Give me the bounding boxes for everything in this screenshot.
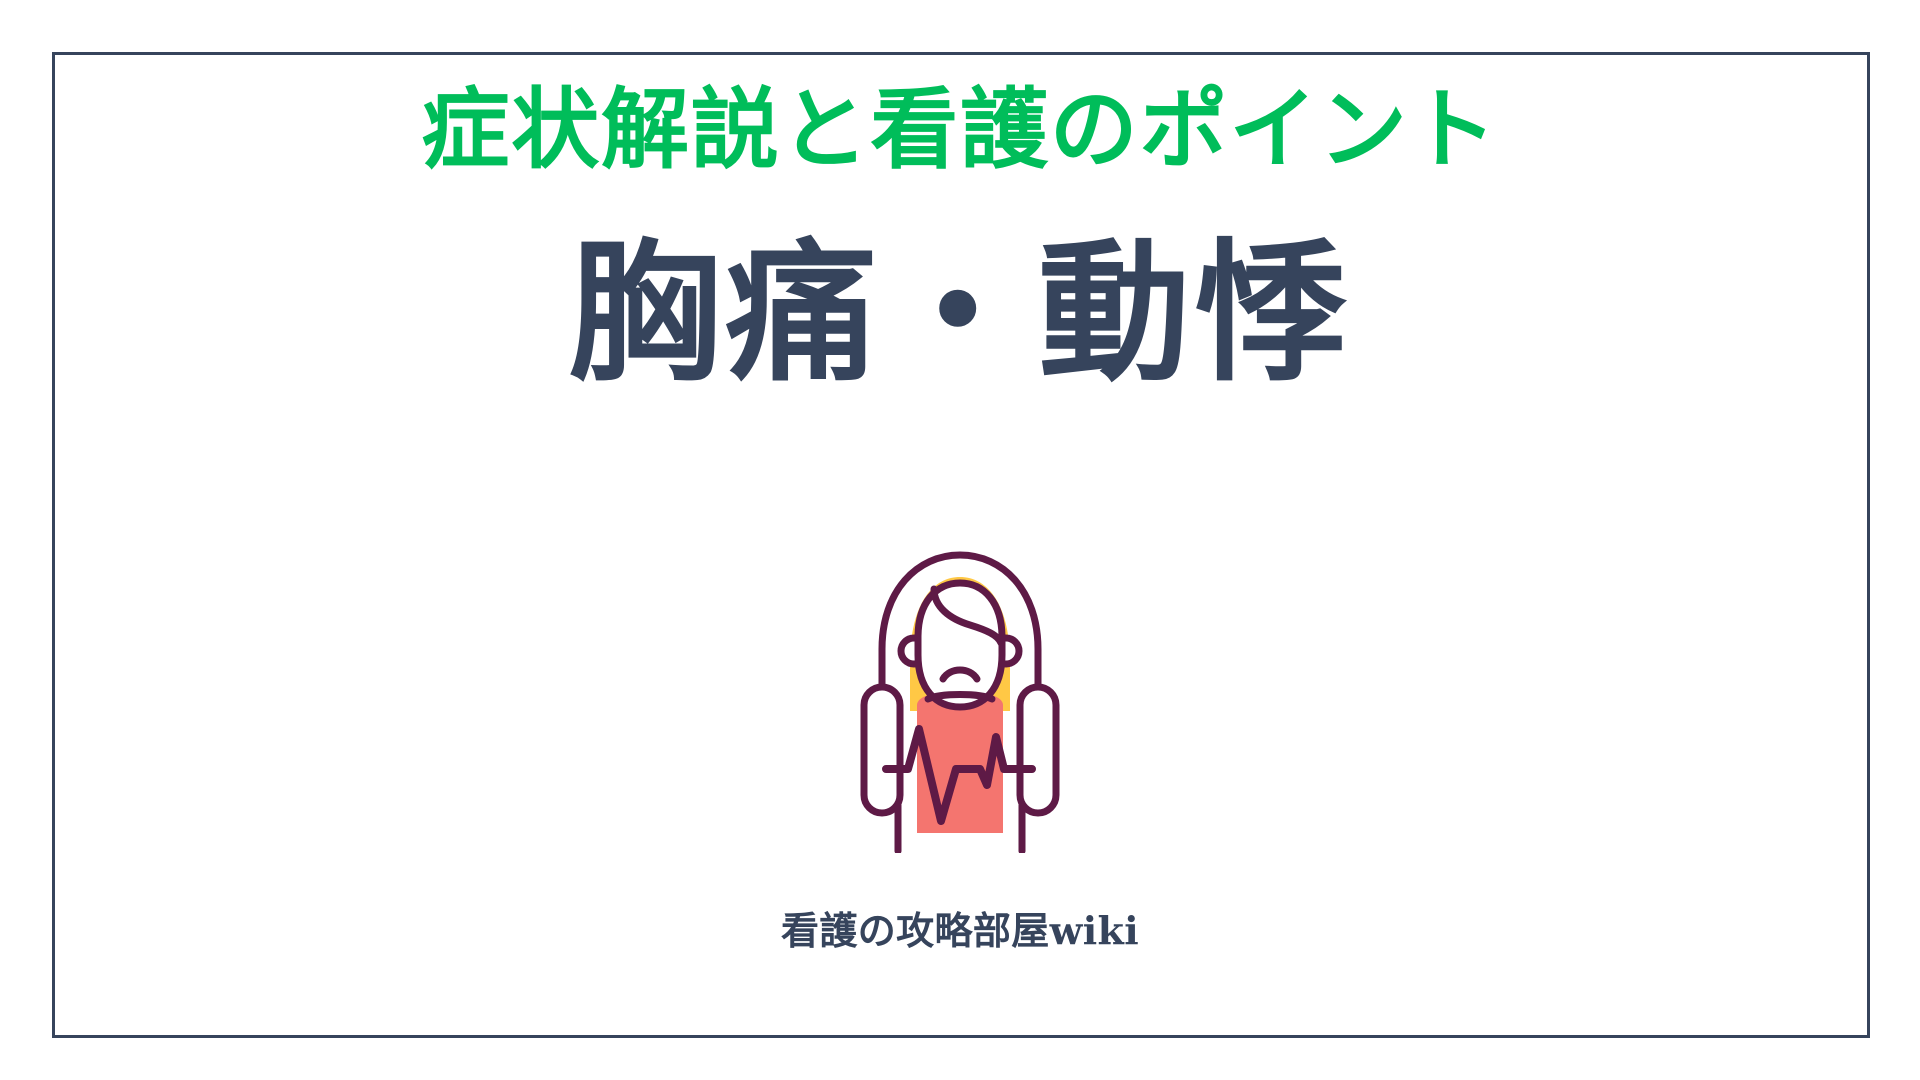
illustration-svg — [840, 533, 1080, 853]
page-title: 胸痛・動悸 — [569, 233, 1352, 393]
distressed-woman-with-heartbeat-illustration — [830, 528, 1090, 858]
left-arm-shape — [864, 687, 900, 813]
slide-content: 症状解説と看護のポイント 胸痛・動悸 — [0, 0, 1920, 1080]
face-shape — [918, 583, 1002, 707]
subtitle-text: 症状解説と看護のポイント — [421, 82, 1498, 177]
right-arm-shape — [1020, 687, 1056, 813]
slide-canvas: 症状解説と看護のポイント 胸痛・動悸 — [0, 0, 1920, 1080]
site-name-footer: 看護の攻略部屋wiki — [781, 900, 1139, 955]
